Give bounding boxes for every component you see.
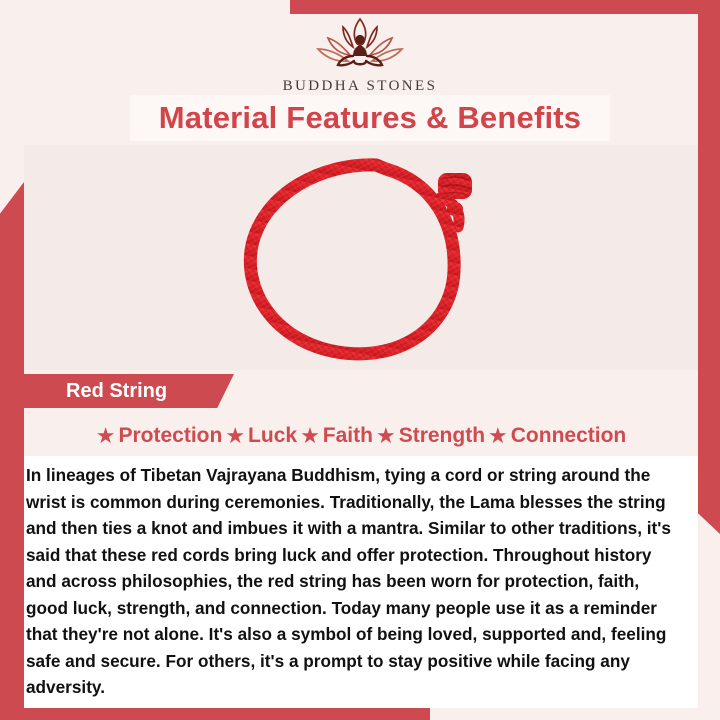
feature-item-strength: ★ Strength: [376, 424, 485, 448]
feature-label: Luck: [248, 424, 297, 448]
infographic-page: BUDDHA STONES Material Features & Benefi…: [0, 0, 720, 720]
brand-logo: BUDDHA STONES: [0, 16, 720, 95]
star-icon: ★: [225, 425, 245, 447]
feature-list: ★ Protection ★ Luck ★ Faith ★ Strength ★…: [24, 418, 698, 454]
star-icon: ★: [376, 425, 396, 447]
feature-label: Strength: [399, 424, 485, 448]
decor-bar-top-right: [290, 0, 720, 14]
product-image-area: [24, 145, 698, 370]
red-braided-string-bracelet: [226, 153, 496, 368]
star-icon: ★: [488, 425, 508, 447]
feature-item-connection: ★ Connection: [488, 424, 626, 448]
product-label: Red String: [24, 380, 167, 403]
feature-label: Faith: [323, 424, 373, 448]
description-text: In lineages of Tibetan Vajrayana Buddhis…: [26, 462, 684, 701]
feature-item-luck: ★ Luck: [225, 424, 297, 448]
feature-label: Protection: [118, 424, 222, 448]
page-title: Material Features & Benefits: [159, 100, 582, 136]
brand-name: BUDDHA STONES: [0, 78, 720, 95]
star-icon: ★: [300, 425, 320, 447]
decor-bar-left: [0, 182, 24, 710]
title-banner: Material Features & Benefits: [130, 95, 610, 141]
decor-bar-bottom-left: [0, 708, 430, 720]
feature-label: Connection: [511, 424, 627, 448]
description-panel: In lineages of Tibetan Vajrayana Buddhis…: [24, 456, 698, 708]
product-label-ribbon: Red String: [24, 374, 234, 408]
lotus-meditation-figure-icon: [310, 16, 410, 74]
feature-item-protection: ★ Protection: [96, 424, 223, 448]
feature-item-faith: ★ Faith: [300, 424, 373, 448]
star-icon: ★: [96, 425, 116, 447]
